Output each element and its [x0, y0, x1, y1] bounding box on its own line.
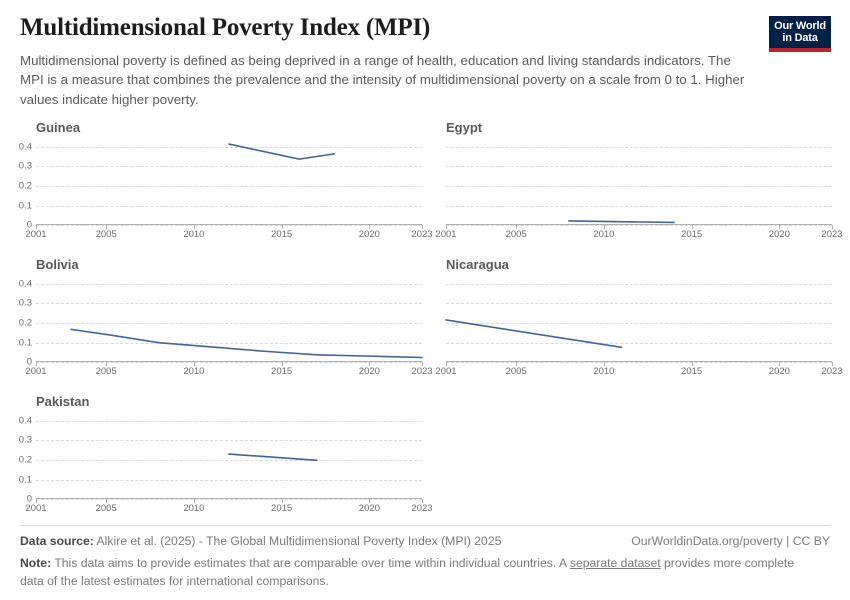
x-axis-tick-label: 2015 [271, 504, 292, 514]
x-axis-tick-label: 2010 [593, 230, 614, 240]
x-axis: 200120052010201520202023 [36, 499, 422, 515]
x-axis: 200120052010201520202023 [446, 362, 832, 378]
x-axis-tick-label: 2023 [821, 367, 842, 377]
panel-title: Nicaragua [446, 256, 834, 273]
panel-egypt: Egypt200120052010201520202023 [424, 119, 834, 256]
y-axis-tick-label: 0.2 [14, 455, 32, 465]
x-axis-tick-label: 2020 [769, 230, 790, 240]
x-axis: 200120052010201520202023 [36, 225, 422, 241]
panel-nicaragua: Nicaragua200120052010201520202023 [424, 256, 834, 393]
y-axis-tick-label: 0.3 [14, 299, 32, 309]
x-axis-tick-label: 2005 [96, 504, 117, 514]
page-title: Multidimensional Poverty Index (MPI) [20, 14, 830, 42]
y-axis-tick-label: 0.2 [14, 181, 32, 191]
x-axis-tick-label: 2005 [506, 230, 527, 240]
note-text-before: This data aims to provide estimates that… [51, 556, 570, 570]
y-axis-tick-label: 0.3 [14, 436, 32, 446]
x-axis-tick-label: 2001 [25, 367, 46, 377]
series-line [446, 139, 832, 225]
y-axis-tick-label: 0.4 [14, 279, 32, 289]
data-source-text: Alkire et al. (2025) - The Global Multid… [94, 534, 502, 548]
plot-area: 00.10.20.30.4 [36, 276, 422, 362]
series-line [446, 276, 832, 362]
chart-footer: Data source: Alkire et al. (2025) - The … [0, 525, 850, 600]
separate-dataset-link[interactable]: separate dataset [570, 556, 661, 570]
x-axis-tick-label: 2005 [96, 367, 117, 377]
y-axis-tick-label: 0.4 [14, 142, 32, 152]
panel-pakistan: Pakistan00.10.20.30.42001200520102015202… [14, 393, 424, 530]
data-source-row: Data source: Alkire et al. (2025) - The … [20, 534, 830, 548]
x-axis: 200120052010201520202023 [36, 362, 422, 378]
x-axis-tick-label: 2010 [183, 367, 204, 377]
y-axis-tick-label: 0.3 [14, 162, 32, 172]
panel-title: Bolivia [36, 256, 424, 273]
y-axis-tick-label: 0.2 [14, 318, 32, 328]
y-axis-tick-label: 0.1 [14, 338, 32, 348]
x-axis-tick-label: 2023 [411, 504, 432, 514]
plot-area [446, 139, 832, 225]
chart-subtitle: Multidimensional poverty is defined as b… [20, 51, 745, 110]
y-axis-tick-label: 0.1 [14, 475, 32, 485]
chart-header: Multidimensional Poverty Index (MPI) Mul… [0, 0, 850, 109]
x-axis: 200120052010201520202023 [446, 225, 832, 241]
data-source: Data source: Alkire et al. (2025) - The … [20, 534, 501, 548]
owid-logo[interactable]: Our World in Data [769, 16, 831, 52]
series-line [36, 276, 422, 362]
y-axis-tick-label: 0.1 [14, 201, 32, 211]
owid-logo-line1: Our World [773, 20, 827, 32]
panel-title: Egypt [446, 119, 834, 136]
x-axis-tick-label: 2010 [593, 367, 614, 377]
series-line [36, 139, 422, 225]
x-axis-tick-label: 2020 [359, 367, 380, 377]
footer-divider [20, 525, 830, 526]
x-axis-tick-label: 2001 [25, 504, 46, 514]
plot-area [446, 276, 832, 362]
x-axis-tick-label: 2020 [769, 367, 790, 377]
data-source-label: Data source: [20, 534, 94, 548]
note-label: Note: [20, 556, 51, 570]
x-axis-tick-label: 2015 [271, 230, 292, 240]
x-axis-tick-label: 2023 [821, 230, 842, 240]
panel-bolivia: Bolivia00.10.20.30.420012005201020152020… [14, 256, 424, 393]
panel-guinea: Guinea00.10.20.30.4200120052010201520202… [14, 119, 424, 256]
x-axis-tick-label: 2020 [359, 230, 380, 240]
panel-title: Guinea [36, 119, 424, 136]
x-axis-tick-label: 2015 [681, 230, 702, 240]
attribution[interactable]: OurWorldinData.org/poverty | CC BY [631, 534, 830, 548]
series-line [36, 413, 422, 499]
x-axis-tick-label: 2015 [271, 367, 292, 377]
x-axis-tick-label: 2010 [183, 504, 204, 514]
x-axis-tick-label: 2020 [359, 504, 380, 514]
x-axis-tick-label: 2001 [435, 367, 456, 377]
x-axis-tick-label: 2005 [96, 230, 117, 240]
x-axis-tick-label: 2001 [25, 230, 46, 240]
owid-logo-line2: in Data [773, 32, 827, 44]
plot-area: 00.10.20.30.4 [36, 413, 422, 499]
panel-title: Pakistan [36, 393, 424, 410]
small-multiples-grid: Guinea00.10.20.30.4200120052010201520202… [0, 119, 850, 530]
footer-note: Note: This data aims to provide estimate… [20, 555, 810, 590]
x-axis-tick-label: 2015 [681, 367, 702, 377]
y-axis-tick-label: 0.4 [14, 416, 32, 426]
plot-area: 00.10.20.30.4 [36, 139, 422, 225]
x-axis-tick-label: 2001 [435, 230, 456, 240]
x-axis-tick-label: 2010 [183, 230, 204, 240]
x-axis-tick-label: 2005 [506, 367, 527, 377]
